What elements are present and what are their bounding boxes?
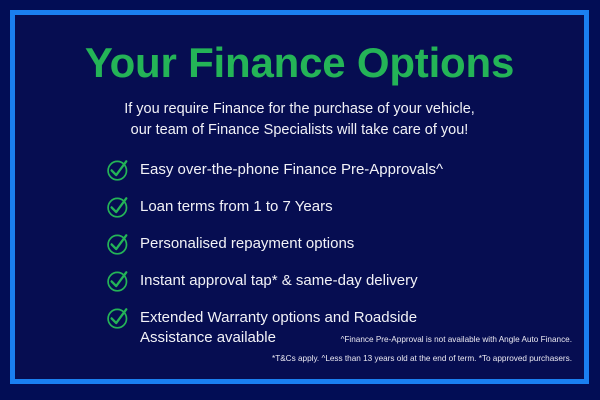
list-item-label: Loan terms from 1 to 7 Years bbox=[140, 195, 333, 217]
banner-border-frame: Your Finance Options If you require Fina… bbox=[10, 10, 589, 384]
benefits-list: Easy over-the-phone Finance Pre-Approval… bbox=[106, 158, 564, 349]
list-item-label: Instant approval tap* & same-day deliver… bbox=[140, 269, 418, 291]
check-circle-icon bbox=[106, 195, 130, 219]
subtitle-line-2: our team of Finance Specialists will tak… bbox=[15, 120, 584, 141]
list-item-label: Easy over-the-phone Finance Pre-Approval… bbox=[140, 158, 443, 180]
finance-options-banner: Your Finance Options If you require Fina… bbox=[0, 0, 600, 400]
list-item: Loan terms from 1 to 7 Years bbox=[106, 195, 564, 219]
subtitle-line-1: If you require Finance for the purchase … bbox=[15, 99, 584, 120]
check-circle-icon bbox=[106, 232, 130, 256]
page-title: Your Finance Options bbox=[15, 40, 584, 86]
banner-content-area: Your Finance Options If you require Fina… bbox=[15, 15, 584, 379]
fine-print: ^Finance Pre-Approval is not available w… bbox=[272, 331, 572, 369]
check-circle-icon bbox=[106, 269, 130, 293]
list-item: Personalised repayment options bbox=[106, 232, 564, 256]
fine-print-line: ^Finance Pre-Approval is not available w… bbox=[272, 331, 572, 350]
check-circle-icon bbox=[106, 158, 130, 182]
list-item: Easy over-the-phone Finance Pre-Approval… bbox=[106, 158, 564, 182]
subtitle: If you require Finance for the purchase … bbox=[15, 99, 584, 141]
list-item: Instant approval tap* & same-day deliver… bbox=[106, 269, 564, 293]
check-circle-icon bbox=[106, 306, 130, 330]
fine-print-line: *T&Cs apply. ^Less than 13 years old at … bbox=[272, 350, 572, 369]
list-item-label: Personalised repayment options bbox=[140, 232, 354, 254]
